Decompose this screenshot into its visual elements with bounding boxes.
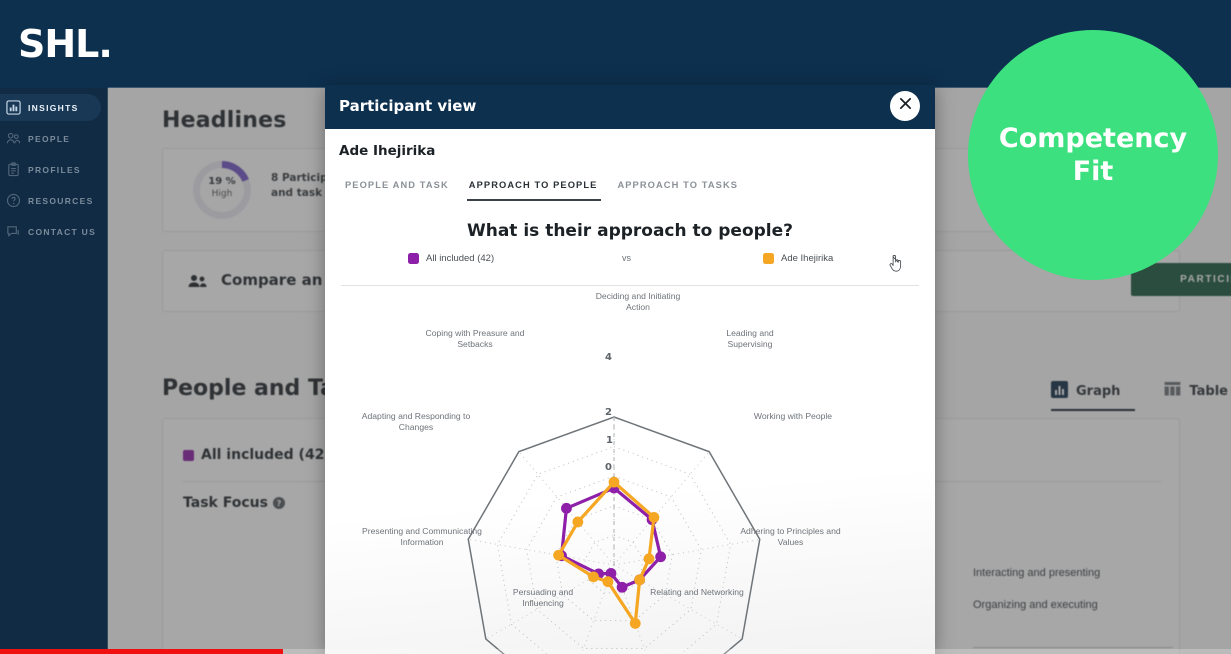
axis-label-adapting: Adapting and Responding to Changes: [351, 411, 481, 433]
video-progress-fill: [0, 649, 283, 654]
axis-label-presenting: Presenting and Communicating Information: [352, 526, 492, 548]
axis-label-adhering: Adhering to Principles and Values: [733, 526, 848, 548]
legend-divider: [341, 285, 919, 286]
close-button[interactable]: [890, 91, 920, 121]
participant-name: Ade Ihejirika: [339, 143, 435, 159]
participant-view-modal: Participant view Ade Ihejirika PEOPLE AN…: [325, 85, 935, 654]
legend-item-all-included: All included (42): [408, 253, 494, 264]
legend-item-participant: Ade Ihejirika: [763, 253, 833, 264]
legend-label-a: All included (42): [426, 253, 494, 264]
modal-title: Participant view: [339, 97, 476, 115]
axis-label-deciding: Deciding and Initiating Action: [583, 291, 693, 313]
legend-vs: vs: [622, 253, 631, 263]
shl-logo: SHL.: [18, 22, 112, 66]
chart-question-title: What is their approach to people?: [325, 221, 935, 241]
axis-label-working: Working with People: [753, 411, 833, 422]
legend-swatch-b: [763, 253, 774, 264]
modal-header: Participant view: [325, 85, 935, 129]
bubble-line-1: Competency: [999, 123, 1187, 154]
scale-tick-1: 1: [606, 435, 613, 446]
video-progress-bar[interactable]: [0, 649, 1231, 654]
tab-approach-to-tasks[interactable]: APPROACH TO TASKS: [607, 180, 748, 201]
close-icon: [899, 97, 912, 115]
bubble-line-2: Fit: [1073, 156, 1114, 187]
radar-chart: Deciding and Initiating Action Leading a…: [325, 291, 935, 654]
axis-label-persuading: Persuading and Influencing: [493, 587, 593, 609]
scale-tick-4: 4: [605, 352, 612, 363]
legend-label-b: Ade Ihejirika: [781, 253, 833, 264]
chart-legend: All included (42) vs Ade Ihejirika: [325, 253, 935, 273]
scale-tick-2: 2: [605, 407, 612, 418]
tab-people-and-task[interactable]: PEOPLE AND TASK: [335, 180, 459, 201]
sidebar-item-label: INSIGHTS: [28, 103, 79, 113]
axis-label-relating: Relating and Networking: [647, 587, 747, 598]
scale-tick-0: 0: [605, 462, 612, 473]
tab-approach-to-people[interactable]: APPROACH TO PEOPLE: [459, 180, 608, 201]
modal-tabs: PEOPLE AND TASK APPROACH TO PEOPLE APPRO…: [335, 180, 748, 201]
sidebar-backdrop: [0, 88, 108, 654]
chart-bar-icon: [6, 100, 21, 115]
competency-fit-bubble: Competency Fit: [968, 30, 1218, 280]
axis-label-leading: Leading and Supervising: [705, 328, 795, 350]
app-root: SHL. INSIGHTS PEOPLE PROFILES RE: [0, 0, 1231, 654]
axis-label-coping: Coping with Preasure and Setbacks: [415, 328, 535, 350]
legend-swatch-a: [408, 253, 419, 264]
